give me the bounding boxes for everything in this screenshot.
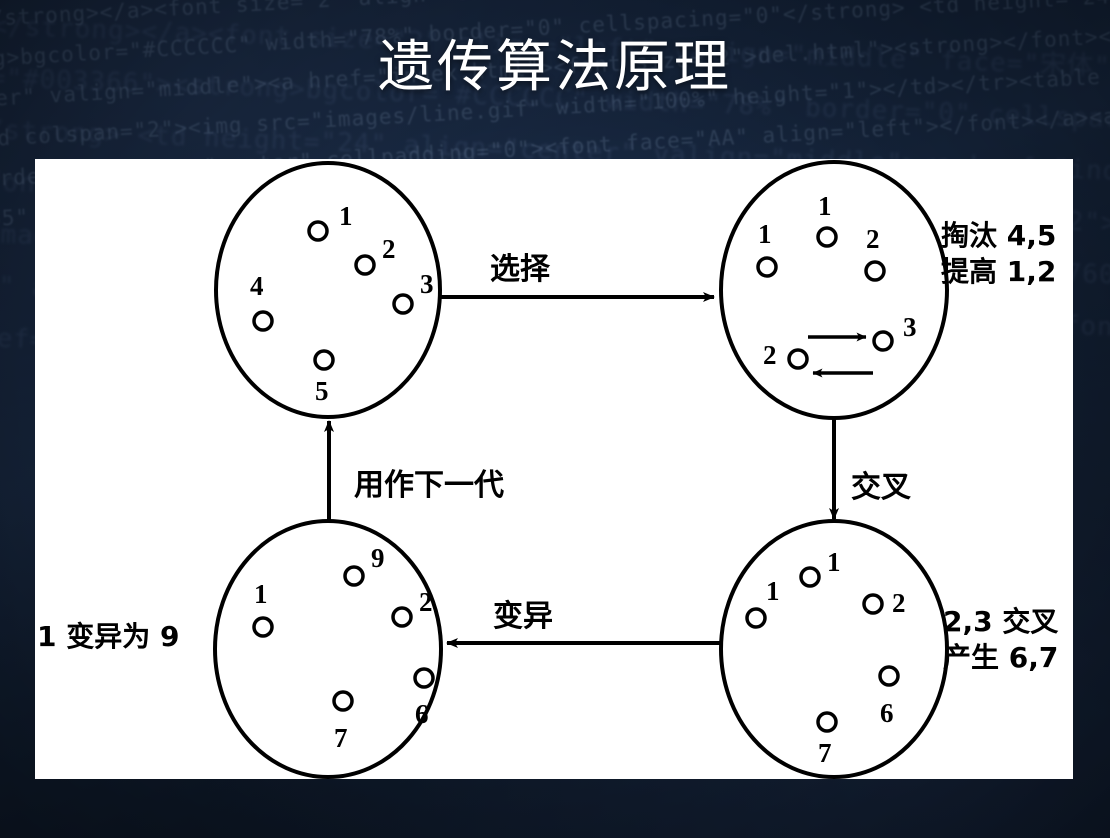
edge-label: 用作下一代 (354, 468, 504, 503)
individual-label: 9 (371, 543, 385, 573)
annotation-line: 掏汰 4,5 (941, 219, 1056, 252)
edge-mutation: 变异 (447, 599, 720, 643)
individual-marker (345, 567, 363, 585)
individual-label: 1 (766, 576, 780, 606)
individual-marker (309, 222, 327, 240)
edge-label: 交叉 (851, 470, 911, 505)
slide-canvas: <b>el</strong></a><font size="2" align="… (0, 0, 1110, 838)
individual-label: 2 (419, 587, 433, 617)
individual-marker (818, 228, 836, 246)
edge-crossover: 交叉 (834, 419, 911, 519)
individual-marker (315, 351, 333, 369)
individual-label: 7 (818, 738, 832, 768)
individual-marker (880, 667, 898, 685)
individual-label: 1 (339, 201, 353, 231)
individual-marker (356, 256, 374, 274)
individual-label: 3 (420, 269, 434, 299)
individual-label: 7 (334, 723, 348, 753)
individual-label: 6 (415, 699, 429, 729)
individual-marker (415, 669, 433, 687)
individual-marker (393, 608, 411, 626)
node-population-mutated: 9 1 2 6 7 (215, 521, 441, 777)
individual-label: 2 (892, 588, 906, 618)
individual-label: 1 (254, 579, 268, 609)
annotation-line: 提高 1,2 (941, 255, 1056, 288)
node-population-selected: 1 1 2 2 3 (721, 162, 947, 418)
individual-marker (789, 350, 807, 368)
page-title: 遗传算法原理 (0, 22, 1110, 103)
individual-marker (866, 262, 884, 280)
individual-marker (874, 332, 892, 350)
individual-label: 5 (315, 376, 329, 406)
individual-marker (394, 295, 412, 313)
individual-marker (864, 595, 882, 613)
individual-label: 4 (250, 271, 264, 301)
edge-next-gen: 用作下一代 (329, 421, 504, 520)
individual-marker (254, 312, 272, 330)
individual-label: 1 (818, 191, 832, 221)
annotation-mutation: 1 变异为 9 (37, 620, 179, 653)
individual-label: 1 (758, 219, 772, 249)
individual-label: 3 (903, 312, 917, 342)
individual-marker (334, 692, 352, 710)
genetic-algorithm-diagram: 1 2 3 4 5 1 1 2 2 (35, 159, 1073, 785)
individual-marker (801, 568, 819, 586)
individual-label: 2 (763, 340, 777, 370)
individual-label: 1 (827, 547, 841, 577)
individual-marker (254, 618, 272, 636)
annotation-line: 产生 6,7 (943, 641, 1058, 674)
individual-marker (818, 713, 836, 731)
individual-label: 6 (880, 698, 894, 728)
individual-label: 2 (866, 224, 880, 254)
edge-label: 变异 (493, 599, 553, 634)
edge-selection: 选择 (441, 252, 714, 297)
node-population-initial: 1 2 3 4 5 (216, 163, 440, 417)
population-circle (721, 162, 947, 418)
annotation-selection: 掏汰 4,5 提高 1,2 (941, 219, 1056, 288)
individual-label: 2 (382, 234, 396, 264)
node-population-crossover: 1 1 2 6 7 (721, 521, 947, 777)
edge-label: 选择 (490, 252, 551, 287)
annotation-line: 1 变异为 9 (37, 620, 179, 653)
population-circle (215, 521, 441, 777)
individual-marker (758, 258, 776, 276)
annotation-crossover: 2,3 交叉 产生 6,7 (943, 605, 1058, 674)
individual-marker (747, 609, 765, 627)
annotation-line: 2,3 交叉 (943, 605, 1058, 638)
